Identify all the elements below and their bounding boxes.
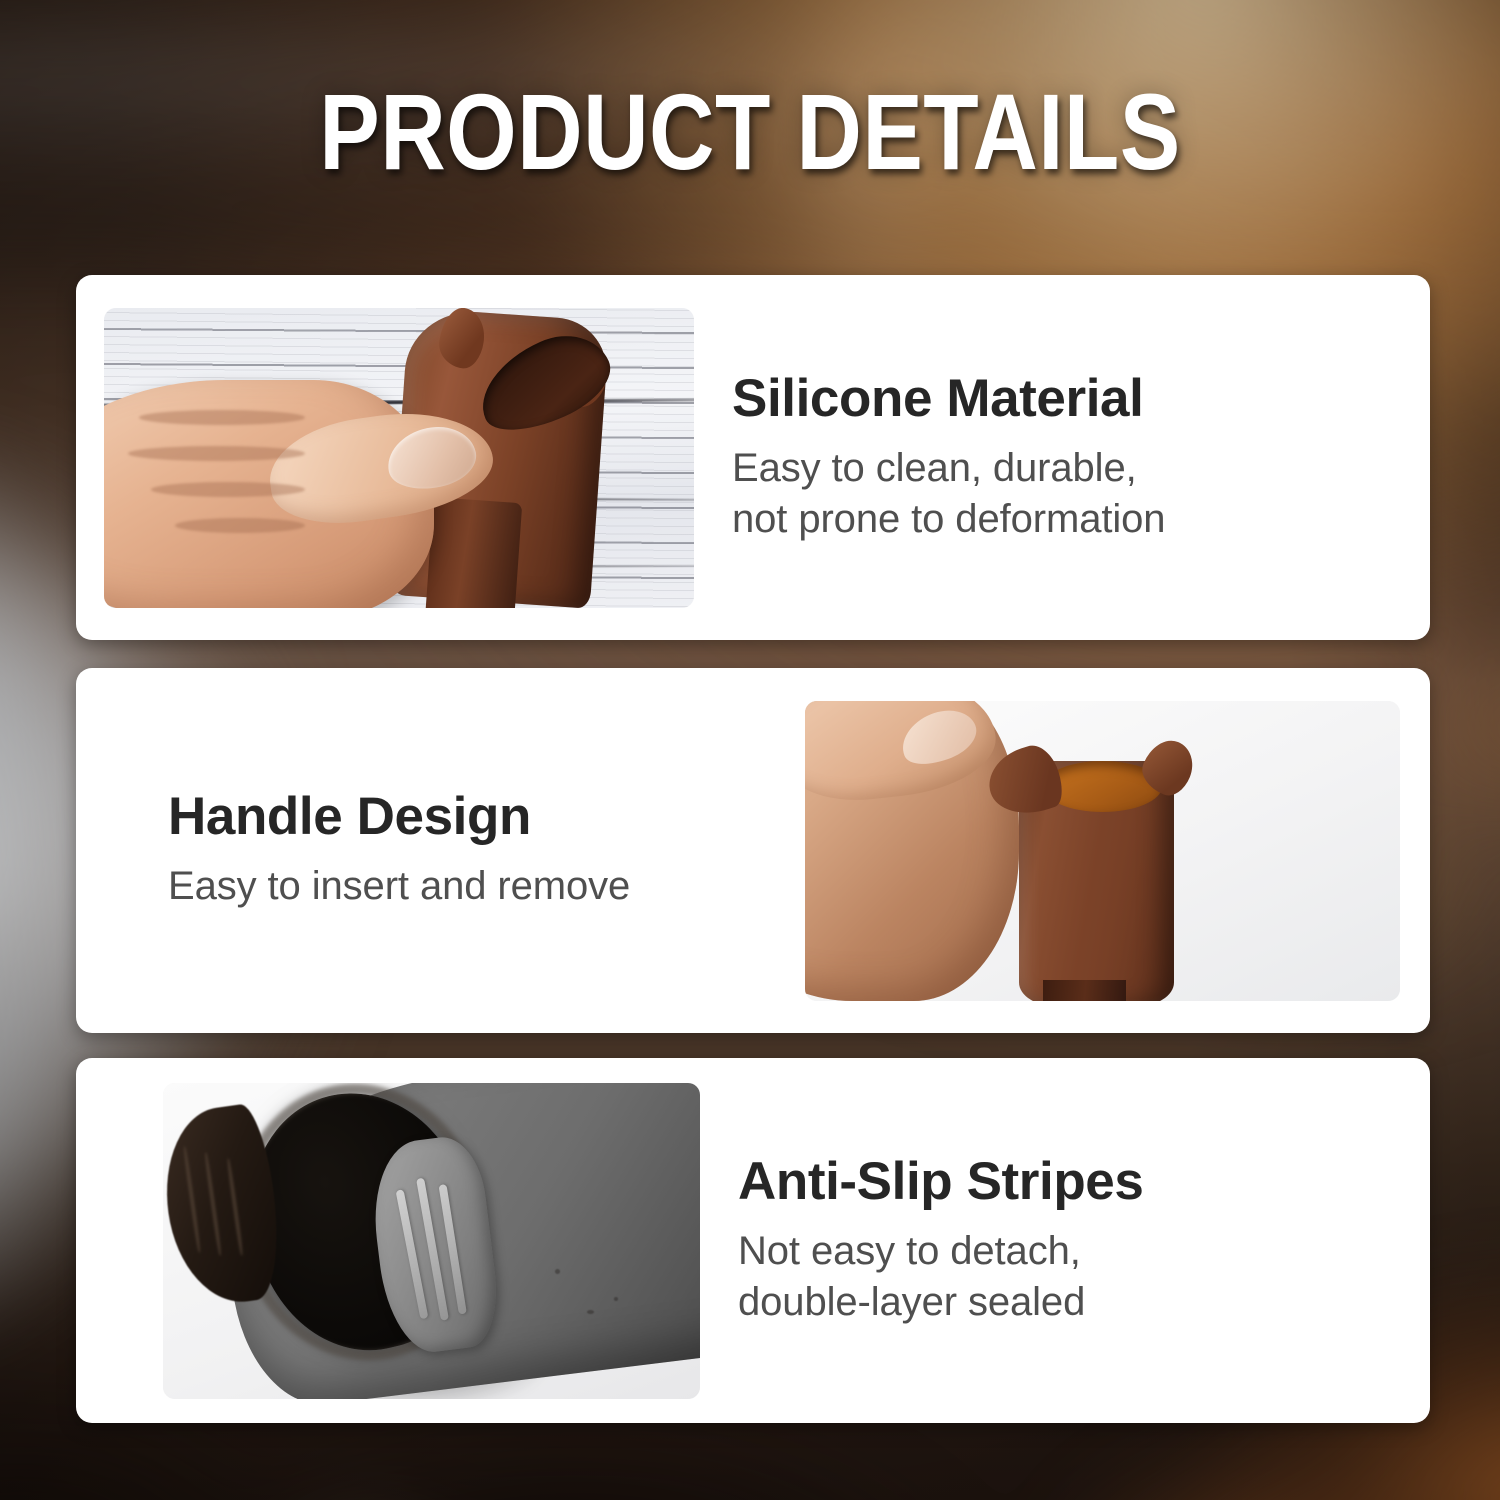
feature-heading: Silicone Material: [732, 371, 1394, 427]
feature-subtitle-line: Easy to insert and remove: [168, 861, 781, 912]
feature-image-handle-design: [805, 701, 1400, 1001]
feature-image-silicone-material: [104, 308, 694, 608]
chair-leg-stem: [1043, 980, 1126, 1001]
skin-crease: [139, 410, 304, 425]
feature-text-handle-design: Handle Design Easy to insert and remove: [76, 789, 805, 912]
surface-speck: [555, 1269, 560, 1274]
skin-crease: [128, 446, 305, 461]
page-title: PRODUCT DETAILS: [120, 78, 1380, 186]
feature-heading: Anti-Slip Stripes: [738, 1154, 1394, 1210]
skin-crease: [151, 482, 304, 497]
feature-card-anti-slip-stripes: Anti-Slip Stripes Not easy to detach, do…: [76, 1058, 1430, 1423]
feature-card-handle-design: Handle Design Easy to insert and remove: [76, 668, 1430, 1033]
feature-subtitle-line: Easy to clean, durable,: [732, 443, 1394, 494]
feature-text-silicone-material: Silicone Material Easy to clean, durable…: [694, 371, 1430, 545]
feature-subtitle-line: Not easy to detach,: [738, 1226, 1394, 1277]
feature-subtitle-line: not prone to deformation: [732, 494, 1394, 545]
feature-heading: Handle Design: [168, 789, 781, 845]
feature-card-silicone-material: Silicone Material Easy to clean, durable…: [76, 275, 1430, 640]
feature-subtitle-line: double-layer sealed: [738, 1277, 1394, 1328]
feature-image-anti-slip-stripes: [163, 1083, 700, 1399]
skin-crease: [175, 518, 305, 533]
chair-leg-stem: [424, 497, 521, 608]
feature-text-anti-slip-stripes: Anti-Slip Stripes Not easy to detach, do…: [700, 1154, 1430, 1328]
